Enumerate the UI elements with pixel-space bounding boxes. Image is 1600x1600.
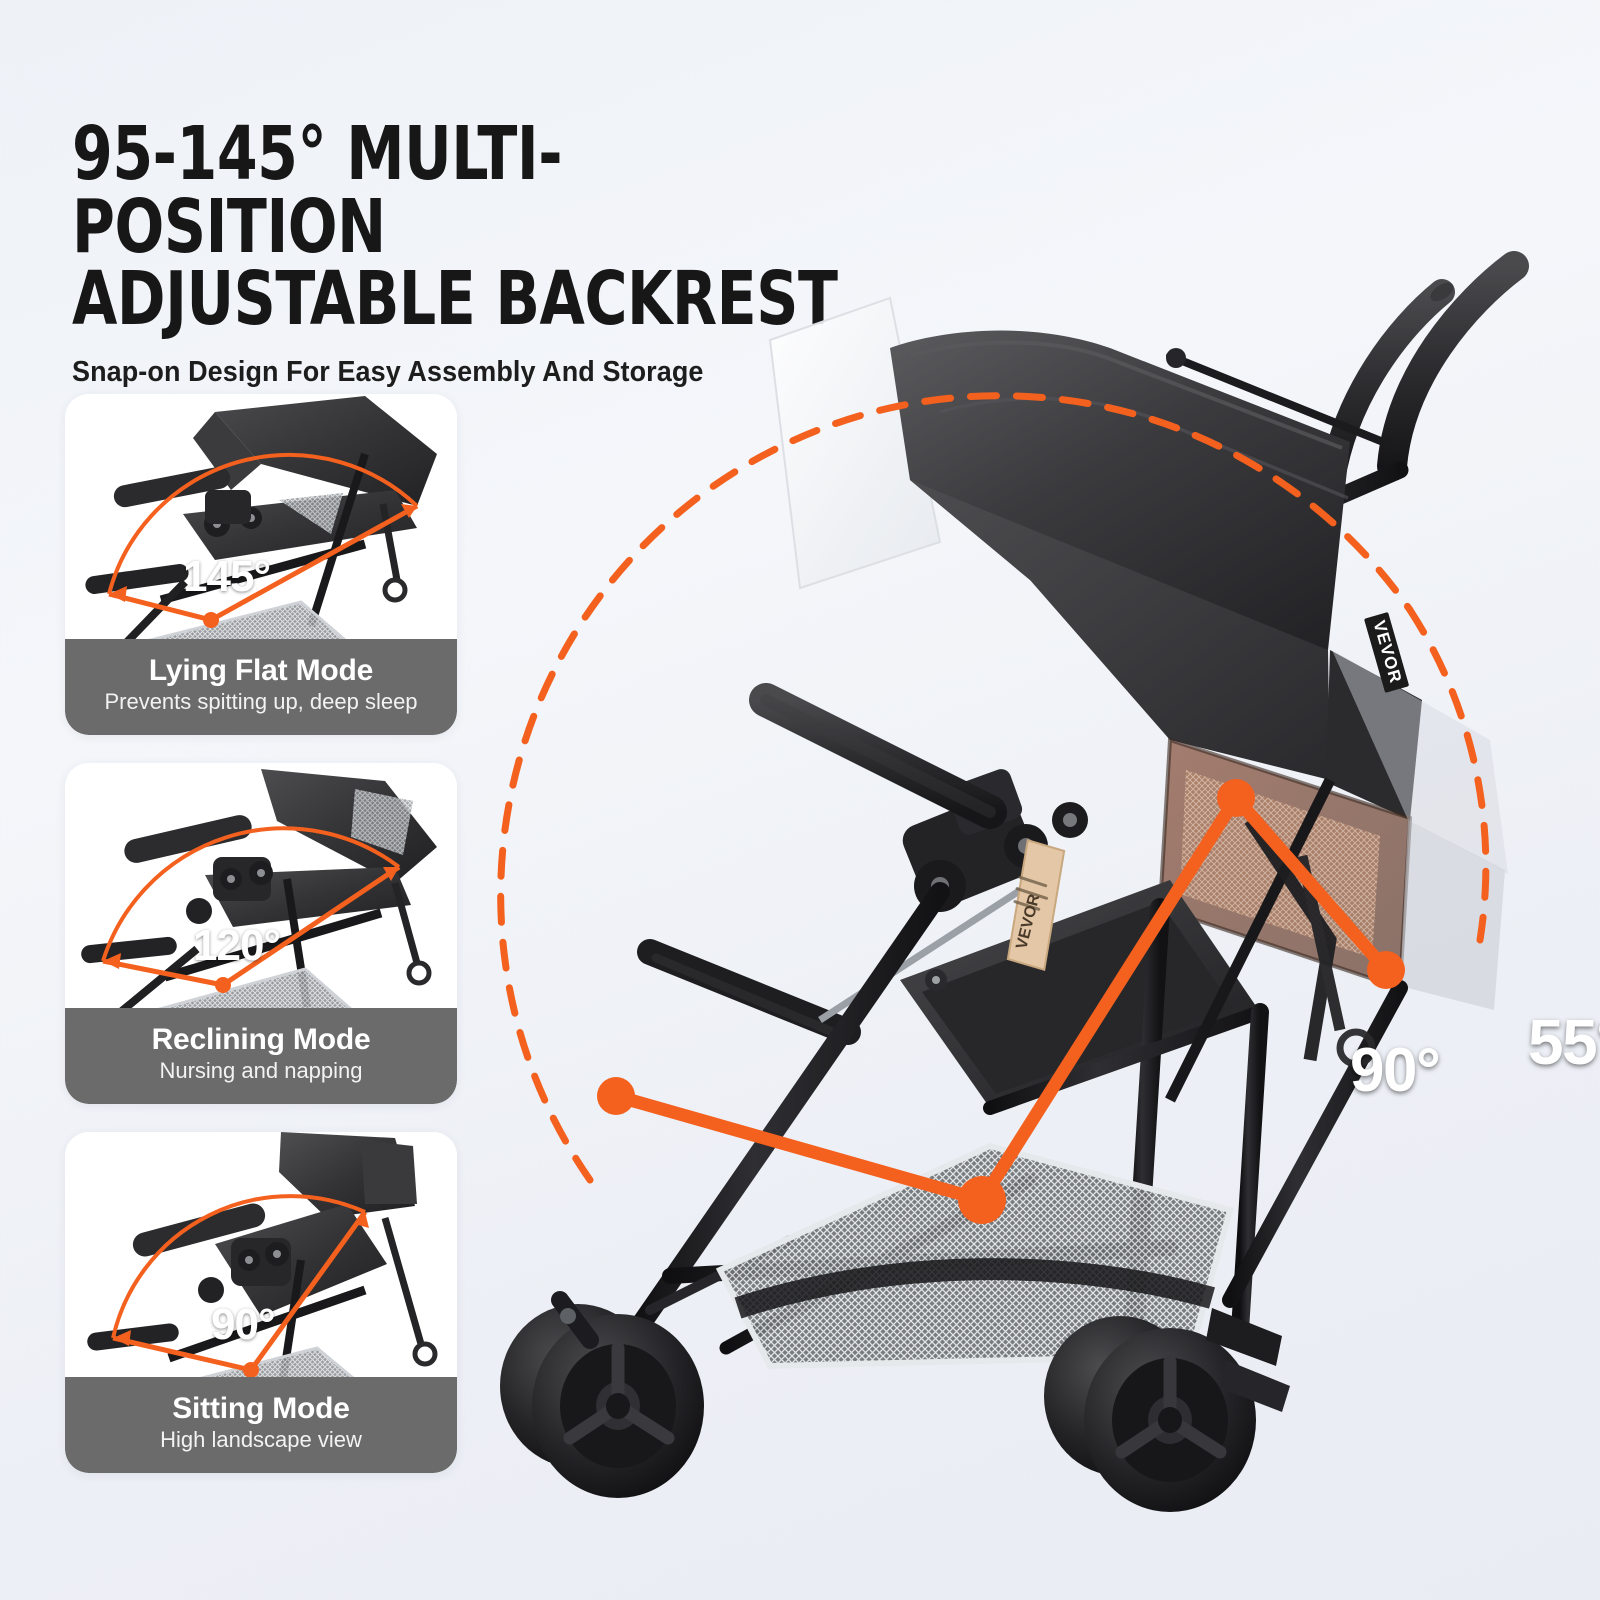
hero-stroller-figure: VEVOR <box>470 180 1600 1600</box>
angle-label-90-hero: 90° <box>1350 1035 1439 1106</box>
mode-card-sitting[interactable]: 90° Sitting Mode High landscape view <box>65 1132 457 1473</box>
angle-endpoint-back <box>1367 951 1405 989</box>
mode-card-reclining[interactable]: 120° Reclining Mode Nursing and napping <box>65 763 457 1104</box>
angle-label-55-hero: 55° <box>1528 1005 1600 1079</box>
angle-endpoint-hinge <box>1217 779 1255 817</box>
rear-wheel-assembly <box>1044 1308 1290 1512</box>
angle-vertex <box>958 1176 1006 1224</box>
card-title-sitting: Sitting Mode <box>172 1393 350 1425</box>
front-wheel-assembly <box>500 1300 704 1498</box>
card-subtitle-sitting: High landscape view <box>160 1428 362 1451</box>
card-caption-lying-flat: Lying Flat Mode Prevents spitting up, de… <box>65 639 457 735</box>
mode-card-lying-flat[interactable]: 145° Lying Flat Mode Prevents spitting u… <box>65 394 457 735</box>
card-subtitle-lying-flat: Prevents spitting up, deep sleep <box>104 690 417 713</box>
angle-label-90-card: 90° <box>211 1300 275 1350</box>
card-title-lying-flat: Lying Flat Mode <box>149 655 373 687</box>
card-title-reclining: Reclining Mode <box>152 1024 371 1056</box>
card-caption-sitting: Sitting Mode High landscape view <box>65 1377 457 1473</box>
angle-endpoint-front <box>597 1077 635 1115</box>
card-subtitle-reclining: Nursing and napping <box>159 1059 362 1082</box>
angle-label-145: 145° <box>183 552 270 602</box>
mode-card-list: 145° Lying Flat Mode Prevents spitting u… <box>65 394 457 1501</box>
angle-label-120: 120° <box>193 921 280 971</box>
card-caption-reclining: Reclining Mode Nursing and napping <box>65 1008 457 1104</box>
